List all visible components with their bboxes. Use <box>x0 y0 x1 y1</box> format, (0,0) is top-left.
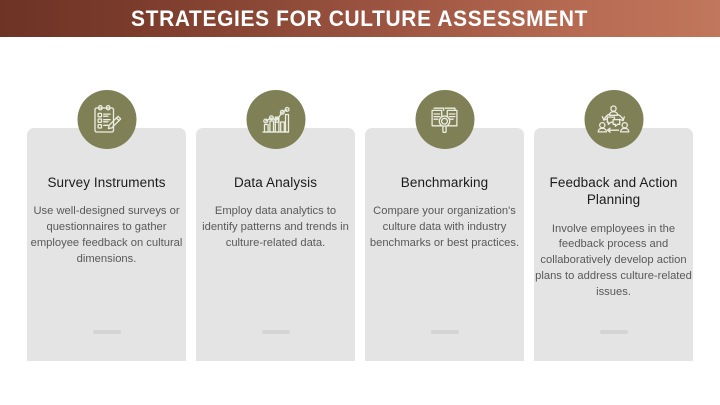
strategy-card-benchmarking[interactable]: Benchmarking Compare your organization's… <box>365 128 524 361</box>
card-body-text: Compare your organization's culture data… <box>366 204 524 252</box>
card-body-text: Employ data analytics to identify patter… <box>197 204 355 252</box>
card-divider <box>262 330 290 334</box>
card-divider <box>600 330 628 334</box>
card-heading: Survey Instruments <box>32 174 182 191</box>
clipboard-checklist-pencil-icon <box>77 90 136 149</box>
card-body-text: Use well-designed surveys or questionnai… <box>28 204 186 268</box>
card-divider <box>431 330 459 334</box>
strategy-card-data-analysis[interactable]: Data Analysis Employ data analytics to i… <box>196 128 355 361</box>
strategy-card-feedback-action-planning[interactable]: Feedback and Action Planning Involve emp… <box>534 128 693 361</box>
people-feedback-loop-icon <box>584 90 643 149</box>
card-body-text: Involve employees in the feedback proces… <box>535 222 693 302</box>
strategy-cards-row: Survey Instruments Use well-designed sur… <box>27 128 693 361</box>
bar-chart-trend-line-icon <box>246 90 305 149</box>
card-heading: Benchmarking <box>370 174 520 191</box>
card-divider <box>93 330 121 334</box>
header-bar: Strategies for Culture Assessment <box>0 0 720 37</box>
page-title: Strategies for Culture Assessment <box>131 6 588 32</box>
strategy-card-survey-instruments[interactable]: Survey Instruments Use well-designed sur… <box>27 128 186 361</box>
card-heading: Data Analysis <box>201 174 351 191</box>
documents-magnifier-icon <box>415 90 474 149</box>
card-heading: Feedback and Action Planning <box>539 174 689 209</box>
